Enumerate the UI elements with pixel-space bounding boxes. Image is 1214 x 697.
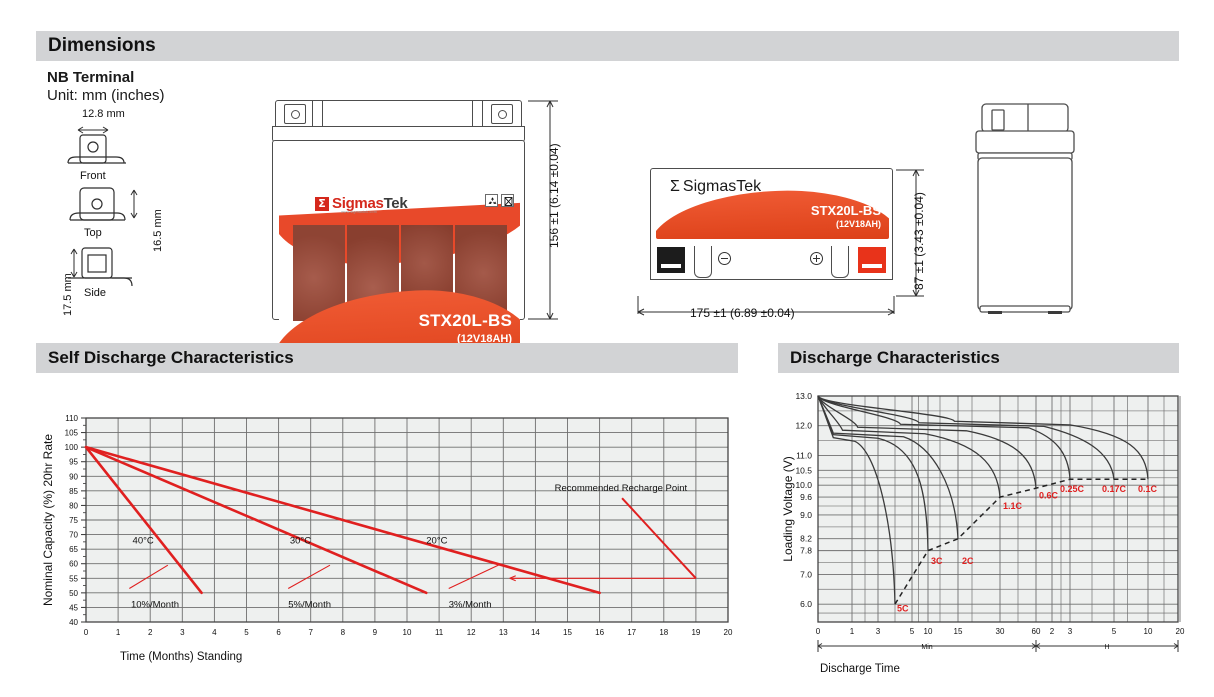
do-not-dispose-icon — [501, 194, 514, 207]
y-tick-label: 45 — [69, 603, 78, 612]
brand-logo-side: Σ SigmasTek — [670, 178, 761, 196]
discharge-rate-label: 3C — [931, 556, 943, 566]
y-tick-label: 12.0 — [795, 421, 812, 431]
x-axis-title: Discharge Time — [820, 663, 900, 675]
battery-label-side: Σ SigmasTek STX20L-BS (12V18AH) — [656, 173, 889, 239]
x-tick-label: 16 — [595, 628, 604, 637]
x-tick-label: 3 — [876, 627, 881, 636]
x-axis-title: Time (Months) Standing — [120, 651, 242, 663]
discharge-rate-label: 1.1C — [1003, 501, 1023, 511]
y-tick-label: 110 — [65, 414, 78, 423]
discharge-chart: 01351015306023510206.07.07.88.29.09.610.… — [778, 378, 1198, 678]
svg-text:Top: Top — [84, 227, 102, 239]
y-axis-title: Nominal Capacity (%) 20hr Rate — [41, 434, 55, 606]
x-tick-label: 6 — [276, 628, 281, 637]
section-header-dimensions: Dimensions — [36, 31, 1179, 61]
y-tick-label: 50 — [69, 589, 78, 598]
dim-width-label: 87 ±1 (3.43 ±0.04) — [912, 192, 926, 290]
x-tick-label: 10 — [403, 628, 412, 637]
x-tick-label: 10 — [924, 627, 933, 636]
x-tick-label: 5 — [244, 628, 249, 637]
y-tick-label: 80 — [69, 501, 78, 510]
chart-annotation: 3%/Month — [449, 599, 492, 610]
x-group-label-hour: H — [1104, 644, 1109, 651]
x-tick-label: 15 — [563, 628, 572, 637]
x-tick-label: 3 — [1068, 627, 1073, 636]
x-tick-label: 20 — [724, 628, 733, 637]
self-discharge-chart: 0123456789101112131415161718192040455055… — [36, 400, 738, 670]
x-tick-label: 1 — [116, 628, 121, 637]
sigma-mark-icon: Σ — [315, 197, 329, 211]
battery-side-foot — [650, 244, 893, 280]
y-tick-label: 7.0 — [800, 569, 812, 579]
x-tick-label: 13 — [499, 628, 508, 637]
minus-symbol-icon — [718, 252, 731, 265]
brand-website: www.sigmastek.com — [341, 210, 377, 214]
nb-terminal-heading: NB Terminal — [47, 69, 134, 86]
x-tick-label: 9 — [373, 628, 378, 637]
y-tick-label: 10.0 — [795, 480, 812, 490]
battery-post-right — [831, 246, 849, 278]
x-tick-label: 2 — [1050, 627, 1055, 636]
battery-model-side: STX20L-BS — [811, 203, 881, 218]
battery-capacity-side: (12V18AH) — [836, 219, 881, 229]
battery-rear-view — [970, 100, 1080, 320]
terminal-negative — [657, 247, 685, 273]
battery-model-front: STX20L-BS — [419, 311, 512, 331]
y-tick-label: 85 — [69, 487, 78, 496]
terminal-positive — [858, 247, 886, 273]
x-tick-label: 18 — [659, 628, 668, 637]
x-tick-label: 60 — [1032, 627, 1041, 636]
x-group-label-min: Min — [921, 644, 932, 651]
y-tick-label: 55 — [69, 574, 78, 583]
x-tick-label: 0 — [816, 627, 821, 636]
x-tick-label: 15 — [954, 627, 963, 636]
x-tick-label: 17 — [627, 628, 636, 637]
discharge-rate-label: 0.6C — [1039, 491, 1059, 501]
y-tick-label: 6.0 — [800, 599, 812, 609]
x-tick-label: 5 — [910, 627, 915, 636]
x-tick-label: 4 — [212, 628, 217, 637]
chart-annotation: 20°C — [426, 535, 447, 546]
terminal-width-dim: 12.8 mm — [82, 108, 125, 120]
section-header-discharge: Discharge Characteristics — [778, 343, 1179, 373]
unit-label: Unit: mm (inches) — [47, 87, 165, 104]
recycle-icon — [485, 194, 498, 207]
brand-name-side: SigmasTek — [683, 178, 761, 196]
battery-front-view: Σ SigmasTek www.sigmastek.com STX20L-BS … — [272, 98, 525, 320]
x-tick-label: 5 — [1112, 627, 1117, 636]
x-tick-label: 8 — [341, 628, 346, 637]
battery-side-view: Σ SigmasTek STX20L-BS (12V18AH) — [650, 168, 893, 296]
x-tick-label: 19 — [691, 628, 700, 637]
y-tick-label: 9.0 — [800, 510, 812, 520]
x-tick-label: 0 — [84, 628, 89, 637]
chart-annotation: 10%/Month — [131, 599, 179, 610]
chart-annotation: 30°C — [290, 535, 311, 546]
discharge-rate-label: 2C — [962, 556, 974, 566]
y-tick-label: 13.0 — [795, 391, 812, 401]
section-header-self-discharge: Self Discharge Characteristics — [36, 343, 738, 373]
y-tick-label: 75 — [69, 516, 78, 525]
chart-annotation: 40°C — [133, 535, 154, 546]
y-tick-label: 65 — [69, 545, 78, 554]
section-title-discharge: Discharge Characteristics — [790, 348, 1000, 368]
x-tick-label: 11 — [435, 628, 444, 637]
x-tick-label: 10 — [1144, 627, 1153, 636]
battery-case-front: Σ SigmasTek www.sigmastek.com STX20L-BS … — [272, 140, 525, 320]
terminal-side-dim: 17.5 mm — [62, 273, 74, 316]
dim-length-label: 175 ±1 (6.89 ±0.04) — [690, 306, 795, 320]
chart-annotation: Recommended Recharge Point — [555, 483, 688, 494]
x-tick-label: 12 — [467, 628, 476, 637]
chart-annotation: 5%/Month — [288, 599, 331, 610]
y-tick-label: 40 — [69, 618, 78, 627]
x-tick-label: 1 — [850, 627, 855, 636]
section-title-self-discharge: Self Discharge Characteristics — [48, 348, 294, 368]
plus-symbol-icon — [810, 252, 823, 265]
x-tick-label: 7 — [308, 628, 313, 637]
battery-vent-right — [491, 104, 513, 124]
battery-vent-left — [284, 104, 306, 124]
lid-divider-right — [472, 100, 473, 128]
battery-label-front: Σ SigmasTek www.sigmastek.com STX20L-BS … — [279, 189, 520, 355]
y-tick-label: 100 — [65, 443, 79, 452]
x-tick-label: 2 — [148, 628, 153, 637]
y-tick-label: 105 — [65, 429, 79, 438]
y-tick-label: 7.8 — [800, 546, 812, 556]
x-tick-label: 30 — [996, 627, 1005, 636]
terminal-top-dim: 16.5 mm — [152, 209, 164, 252]
y-tick-label: 11.0 — [796, 450, 812, 460]
battery-post-left — [694, 246, 712, 278]
lid-divider-left — [312, 100, 313, 128]
y-tick-label: 70 — [69, 531, 78, 540]
discharge-rate-label: 5C — [897, 604, 909, 614]
discharge-rate-label: 0.17C — [1102, 484, 1127, 494]
discharge-rate-label: 0.25C — [1060, 484, 1085, 494]
dim-height-label: 156 ±1 (6.14 ±0.04) — [547, 143, 561, 248]
eco-icon-group — [485, 194, 514, 207]
lid-divider-right2 — [482, 100, 483, 128]
y-tick-label: 90 — [69, 472, 78, 481]
discharge-rate-label: 0.1C — [1138, 484, 1158, 494]
y-tick-label: 60 — [69, 560, 78, 569]
y-tick-label: 10.5 — [795, 465, 812, 475]
lid-divider-left2 — [322, 100, 323, 128]
y-tick-label: 95 — [69, 458, 78, 467]
section-title-dimensions: Dimensions — [48, 35, 156, 57]
svg-text:Front: Front — [80, 170, 106, 182]
y-tick-label: 9.6 — [800, 492, 812, 502]
svg-text:Side: Side — [84, 287, 106, 299]
y-tick-label: 8.2 — [800, 534, 812, 544]
x-tick-label: 20 — [1176, 627, 1185, 636]
sigma-mark-icon-side: Σ — [670, 178, 680, 196]
y-axis-title: Loading Voltage (V) — [781, 456, 795, 561]
x-tick-label: 3 — [180, 628, 185, 637]
x-tick-label: 14 — [531, 628, 540, 637]
